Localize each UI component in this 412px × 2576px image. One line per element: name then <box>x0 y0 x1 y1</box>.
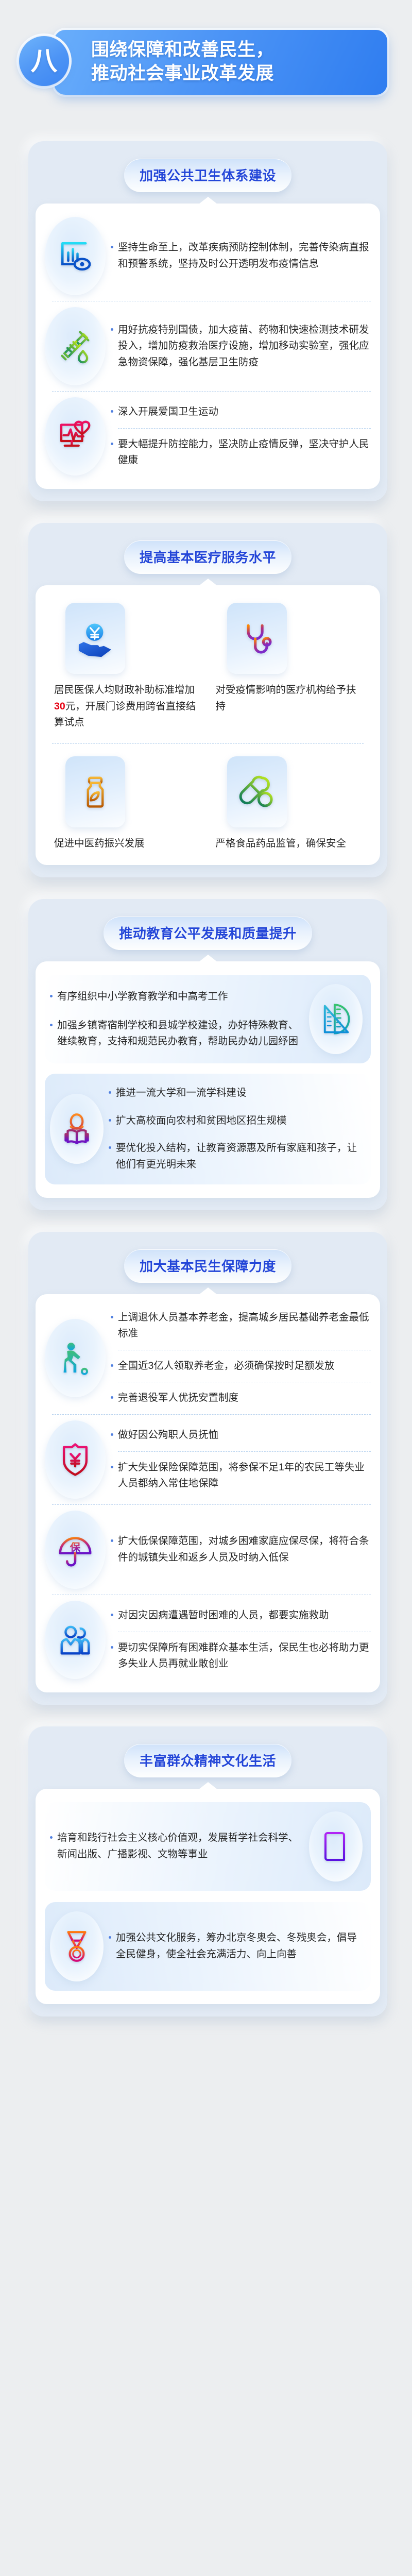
two-people-icon <box>45 1601 106 1679</box>
section-body: 坚持生命至上，改革疾病预防控制体制，完善传染病直报和预警系统，坚持及时公开透明发… <box>36 204 380 489</box>
bullet-list: 推进一流大学和一流学科建设 扩大高校面向农村和贫困地区招生规模 要优化投入结构，… <box>109 1083 363 1175</box>
section-public-health: 加强公共卫生体系建设 <box>28 141 387 501</box>
bullet-dot <box>111 246 113 248</box>
divider <box>118 1632 371 1632</box>
bullet-text: 培育和践行社会主义核心价值观，发展哲学社会科学、新闻出版、广播影视、文物等事业 <box>57 1830 304 1862</box>
content-row: 推进一流大学和一流学科建设 扩大高校面向农村和贫困地区招生规模 要优化投入结构，… <box>50 1083 363 1175</box>
bullet-text: 要优化投入结构，让教育资源惠及所有家庭和孩子，让他们有更光明未来 <box>116 1140 363 1173</box>
bullet-list: 做好因公殉职人员抚恤 扩大失业保险保障范围，将参保不足1年的农民工等失业人员都纳… <box>111 1425 371 1494</box>
tinted-panel: 推进一流大学和一流学科建设 扩大高校面向农村和贫困地区招生规模 要优化投入结构，… <box>45 1074 371 1184</box>
shield-yuan-icon <box>45 1420 106 1499</box>
page-header: 八 围绕保障和改善民生， 推动社会事业改革发展 面对困难，基本民生的底线要坚决兜… <box>0 0 412 120</box>
divider <box>118 1382 371 1382</box>
bullet-item: 扩大失业保险保障范围，将参保不足1年的农民工等失业人员都纳入常住地保障 <box>111 1458 371 1494</box>
bullet-list: 扩大低保保障范围，对城乡困难家庭应保尽保，将符合条件的城镇失业和返乡人员及时纳入… <box>111 1531 371 1568</box>
section-body: 培育和践行社会主义核心价值观，发展哲学社会科学、新闻出版、广播影视、文物等事业 <box>36 1789 380 2004</box>
section-body: 有序组织中小学教育教学和中高考工作 加强乡镇寄宿制学校和县城学校建设，办好特殊教… <box>36 961 380 1197</box>
highlight-number: 30 <box>54 701 65 712</box>
bullet-item: 对因灾因病遭遇暂时困难的人员，都要实施救助 <box>111 1605 371 1626</box>
elderly-walker-icon <box>45 1319 106 1397</box>
yuan-coin-hand-icon <box>65 603 125 674</box>
bullet-dot <box>111 443 113 445</box>
student-book-icon <box>50 1094 104 1164</box>
umbrella-bao-icon: 保 <box>45 1511 106 1589</box>
section-body: 居民医保人均财政补助标准增加30元，开展门诊费用跨省直接结算试点 <box>36 585 380 865</box>
bullet-item: 加强公共文化服务，筹办北京冬奥会、冬残奥会，倡导全民健身，使全社会充满活力、向上… <box>109 1928 363 1964</box>
bullet-dot <box>50 1836 53 1839</box>
cell-text: 居民医保人均财政补助标准增加30元，开展门诊费用跨省直接结算试点 <box>52 682 202 731</box>
tinted-panel: 加强公共文化服务，筹办北京冬奥会、冬残奥会，倡导全民健身，使全社会充满活力、向上… <box>45 1902 371 1991</box>
bullet-item: 加强乡镇寄宿制学校和县城学校建设，办好特殊教育、继续教育，支持和规范民办教育，帮… <box>50 1015 304 1052</box>
bullet-text: 扩大失业保险保障范围，将参保不足1年的农民工等失业人员都纳入常住地保障 <box>118 1460 371 1492</box>
bullet-text: 加强公共文化服务，筹办北京冬奥会、冬残奥会，倡导全民健身，使全社会充满活力、向上… <box>116 1930 363 1962</box>
bullet-item: 扩大高校面向农村和贫困地区招生规模 <box>109 1111 363 1131</box>
grid-cell: 对受疫情影响的医疗机构给予扶持 <box>214 599 364 731</box>
page-title: 围绕保障和改善民生， 推动社会事业改革发展 <box>91 38 376 86</box>
bullet-text: 要切实保障所有困难群众基本生活，保民生也必将助力更多失业人员再就业敢创业 <box>118 1640 371 1672</box>
bullet-dot <box>109 1936 111 1939</box>
divider <box>52 743 364 744</box>
section-title-pill: 丰富群众精神文化生活 <box>124 1744 291 1777</box>
section-livelihood: 加大基本民生保障力度 <box>28 1232 387 1705</box>
bullet-dot <box>111 1316 113 1318</box>
tinted-panel: 培育和践行社会主义核心价值观，发展哲学社会科学、新闻出版、广播影视、文物等事业 <box>45 1802 371 1891</box>
bullet-dot <box>109 1146 111 1149</box>
syringe-vaccine-icon <box>45 307 106 385</box>
tinted-panel: 有序组织中小学教育教学和中高考工作 加强乡镇寄宿制学校和县城学校建设，办好特殊教… <box>45 975 371 1063</box>
bullet-dot <box>111 1364 113 1367</box>
content-row: 加强公共文化服务，筹办北京冬奥会、冬残奥会，倡导全民健身，使全社会充满活力、向上… <box>50 1911 363 1981</box>
bullet-text: 全国近3亿人领取养老金，必须确保按时足额发放 <box>118 1358 334 1375</box>
cell-text: 严格食品药品监管，确保安全 <box>214 836 349 852</box>
section-number-badge: 八 <box>19 36 69 86</box>
bullet-item: 培育和践行社会主义核心价值观，发展哲学社会科学、新闻出版、广播影视、文物等事业 <box>50 1828 304 1865</box>
herbal-medicine-bottle-icon <box>65 756 125 827</box>
bullet-list: 深入开展爱国卫生运动 要大幅提升防控能力，坚决防止疫情反弹，坚决守护人民健康 <box>111 402 371 471</box>
divider <box>52 1504 371 1505</box>
bullet-list: 对因灾因病遭遇暂时困难的人员，都要实施救助 要切实保障所有困难群众基本生活，保民… <box>111 1605 371 1674</box>
section-body: 上调退休人员基本养老金，提高城乡居民基础养老金最低标准 全国近3亿人领取养老金，… <box>36 1294 380 1692</box>
infographic-page: 八 围绕保障和改善民生， 推动社会事业改革发展 面对困难，基本民生的底线要坚决兜… <box>0 0 412 2576</box>
grid-cell: 居民医保人均财政补助标准增加30元，开展门诊费用跨省直接结算试点 <box>52 599 202 731</box>
medal-icon <box>50 1911 104 1981</box>
bullet-item: 要优化投入结构，让教育资源惠及所有家庭和孩子，让他们有更光明未来 <box>109 1138 363 1175</box>
bullet-dot <box>111 1539 113 1542</box>
bullet-dot <box>111 1466 113 1468</box>
bullet-dot <box>109 1119 111 1122</box>
divider <box>52 1595 371 1595</box>
bullet-list: 培育和践行社会主义核心价值观，发展哲学社会科学、新闻出版、广播影视、文物等事业 <box>50 1828 304 1865</box>
divider <box>118 428 371 429</box>
bullet-dot <box>50 995 53 997</box>
bullet-item: 要大幅提升防控能力，坚决防止疫情反弹，坚决守护人民健康 <box>111 434 371 471</box>
bullet-item: 推进一流大学和一流学科建设 <box>109 1083 363 1104</box>
section-number-text: 八 <box>30 48 57 75</box>
stethoscope-icon <box>227 603 287 674</box>
bullet-list: 加强公共文化服务，筹办北京冬奥会、冬残奥会，倡导全民健身，使全社会充满活力、向上… <box>109 1928 363 1964</box>
bullet-dot <box>111 1646 113 1649</box>
content-row: 有序组织中小学教育教学和中高考工作 加强乡镇寄宿制学校和县城学校建设，办好特殊教… <box>50 984 363 1054</box>
bullet-item: 全国近3亿人领取养老金，必须确保按时足额发放 <box>111 1356 371 1377</box>
medical-grid: 居民医保人均财政补助标准增加30元，开展门诊费用跨省直接结算试点 <box>45 599 371 852</box>
section-title-pill: 提高基本医疗服务水平 <box>124 540 291 574</box>
bullet-text: 对因灾因病遭遇暂时困难的人员，都要实施救助 <box>118 1607 329 1624</box>
bullet-list: 上调退休人员基本养老金，提高城乡居民基础养老金最低标准 全国近3亿人领取养老金，… <box>111 1308 371 1409</box>
content-row: 用好抗疫特别国债，加大疫苗、药物和快速检测技术研发投入，增加防疫救治医疗设施，增… <box>45 307 371 385</box>
bullet-item: 扩大低保保障范围，对城乡困难家庭应保尽保，将符合条件的城镇失业和返乡人员及时纳入… <box>111 1531 371 1568</box>
grid-cell: 严格食品药品监管，确保安全 <box>214 752 364 852</box>
bullet-text: 扩大高校面向农村和贫困地区招生规模 <box>116 1113 287 1129</box>
bullet-list: 坚持生命至上，改革疾病预防控制体制，完善传染病直报和预警系统，坚持及时公开透明发… <box>111 238 371 274</box>
bullet-item: 完善退役军人优抚安置制度 <box>111 1388 371 1409</box>
bullet-item: 上调退休人员基本养老金，提高城乡居民基础养老金最低标准 <box>111 1308 371 1344</box>
ruler-protractor-icon <box>309 984 363 1054</box>
bullet-dot <box>111 1614 113 1616</box>
bullet-text: 扩大低保保障范围，对城乡困难家庭应保尽保，将符合条件的城镇失业和返乡人员及时纳入… <box>118 1533 371 1566</box>
header-title-bar: 围绕保障和改善民生， 推动社会事业改革发展 <box>54 30 387 95</box>
section-title-text: 加强公共卫生体系建设 <box>140 168 276 183</box>
bullet-dot <box>111 1433 113 1436</box>
bullet-text: 上调退休人员基本养老金，提高城乡居民基础养老金最低标准 <box>118 1310 371 1342</box>
divider <box>52 1414 371 1415</box>
grid-cell: 促进中医药振兴发展 <box>52 752 202 852</box>
document-news-icon <box>309 1811 363 1882</box>
bullet-dot <box>111 1396 113 1399</box>
bullet-list: 有序组织中小学教育教学和中高考工作 加强乡镇寄宿制学校和县城学校建设，办好特殊教… <box>50 987 304 1052</box>
content-row: 保 扩大低保保障范围，对城乡困难家庭应保尽保，将符合条件的城镇失业和返乡人员及时… <box>45 1511 371 1589</box>
bullet-text: 有序组织中小学教育教学和中高考工作 <box>57 989 228 1005</box>
content-row: 坚持生命至上，改革疾病预防控制体制，完善传染病直报和预警系统，坚持及时公开透明发… <box>45 217 371 295</box>
svg-text:保: 保 <box>70 1541 81 1553</box>
divider <box>52 301 371 301</box>
bullet-text: 加强乡镇寄宿制学校和县城学校建设，办好特殊教育、继续教育，支持和规范民办教育，帮… <box>57 1018 304 1050</box>
bullet-dot <box>111 328 113 331</box>
section-title-text: 提高基本医疗服务水平 <box>140 550 276 565</box>
bullet-text: 要大幅提升防控能力，坚决防止疫情反弹，坚决守护人民健康 <box>118 436 371 469</box>
bullet-item: 用好抗疫特别国债，加大疫苗、药物和快速检测技术研发投入，增加防疫救治医疗设施，增… <box>111 320 371 373</box>
bullet-item: 要切实保障所有困难群众基本生活，保民生也必将助力更多失业人员再就业敢创业 <box>111 1638 371 1674</box>
divider <box>118 1451 371 1452</box>
section-title-pill: 加大基本民生保障力度 <box>124 1249 291 1283</box>
section-culture: 丰富群众精神文化生活 <box>28 1726 387 2016</box>
section-title-text: 推动教育公平发展和质量提升 <box>119 926 297 941</box>
bullet-text: 深入开展爱国卫生运动 <box>118 404 218 420</box>
section-title-pill: 推动教育公平发展和质量提升 <box>104 917 312 950</box>
content-row: 培育和践行社会主义核心价值观，发展哲学社会科学、新闻出版、广播影视、文物等事业 <box>50 1811 363 1882</box>
section-education: 推动教育公平发展和质量提升 <box>28 899 387 1210</box>
section-basic-medical: 提高基本医疗服务水平 <box>28 523 387 877</box>
divider <box>118 1350 371 1350</box>
bullet-item: 有序组织中小学教育教学和中高考工作 <box>50 987 304 1007</box>
bullet-item: 坚持生命至上，改革疾病预防控制体制，完善传染病直报和预警系统，坚持及时公开透明发… <box>111 238 371 274</box>
bullet-dot <box>111 410 113 413</box>
bullet-item: 做好因公殉职人员抚恤 <box>111 1425 371 1446</box>
bullet-dot <box>50 1024 53 1026</box>
content-row: 做好因公殉职人员抚恤 扩大失业保险保障范围，将参保不足1年的农民工等失业人员都纳… <box>45 1420 371 1499</box>
bullet-item: 深入开展爱国卫生运动 <box>111 402 371 422</box>
cell-text: 促进中医药振兴发展 <box>52 836 147 852</box>
bullet-dot <box>109 1091 111 1094</box>
bullet-text: 坚持生命至上，改革疾病预防控制体制，完善传染病直报和预警系统，坚持及时公开透明发… <box>118 240 371 272</box>
section-title-pill: 加强公共卫生体系建设 <box>124 159 291 192</box>
cell-text: 对受疫情影响的医疗机构给予扶持 <box>214 682 364 715</box>
section-title-text: 加大基本民生保障力度 <box>140 1259 276 1274</box>
divider <box>52 391 371 392</box>
content-row: 深入开展爱国卫生运动 要大幅提升防控能力，坚决防止疫情反弹，坚决守护人民健康 <box>45 397 371 476</box>
bullet-text: 用好抗疫特别国债，加大疫苗、药物和快速检测技术研发投入，增加防疫救治医疗设施，增… <box>118 322 371 371</box>
content-row: 对因灾因病遭遇暂时困难的人员，都要实施救助 要切实保障所有困难群众基本生活，保民… <box>45 1601 371 1679</box>
bullet-list: 用好抗疫特别国债，加大疫苗、药物和快速检测技术研发投入，增加防疫救治医疗设施，增… <box>111 320 371 373</box>
heartbeat-monitor-icon <box>45 397 106 476</box>
content-row: 上调退休人员基本养老金，提高城乡居民基础养老金最低标准 全国近3亿人领取养老金，… <box>45 1308 371 1409</box>
monitor-chart-eye-icon <box>45 217 106 295</box>
section-title-text: 丰富群众精神文化生活 <box>140 1753 276 1769</box>
bullet-text: 完善退役军人优抚安置制度 <box>118 1390 238 1406</box>
bullet-text: 推进一流大学和一流学科建设 <box>116 1085 247 1101</box>
capsule-pill-icon <box>227 756 287 827</box>
bullet-text: 做好因公殉职人员抚恤 <box>118 1427 218 1444</box>
